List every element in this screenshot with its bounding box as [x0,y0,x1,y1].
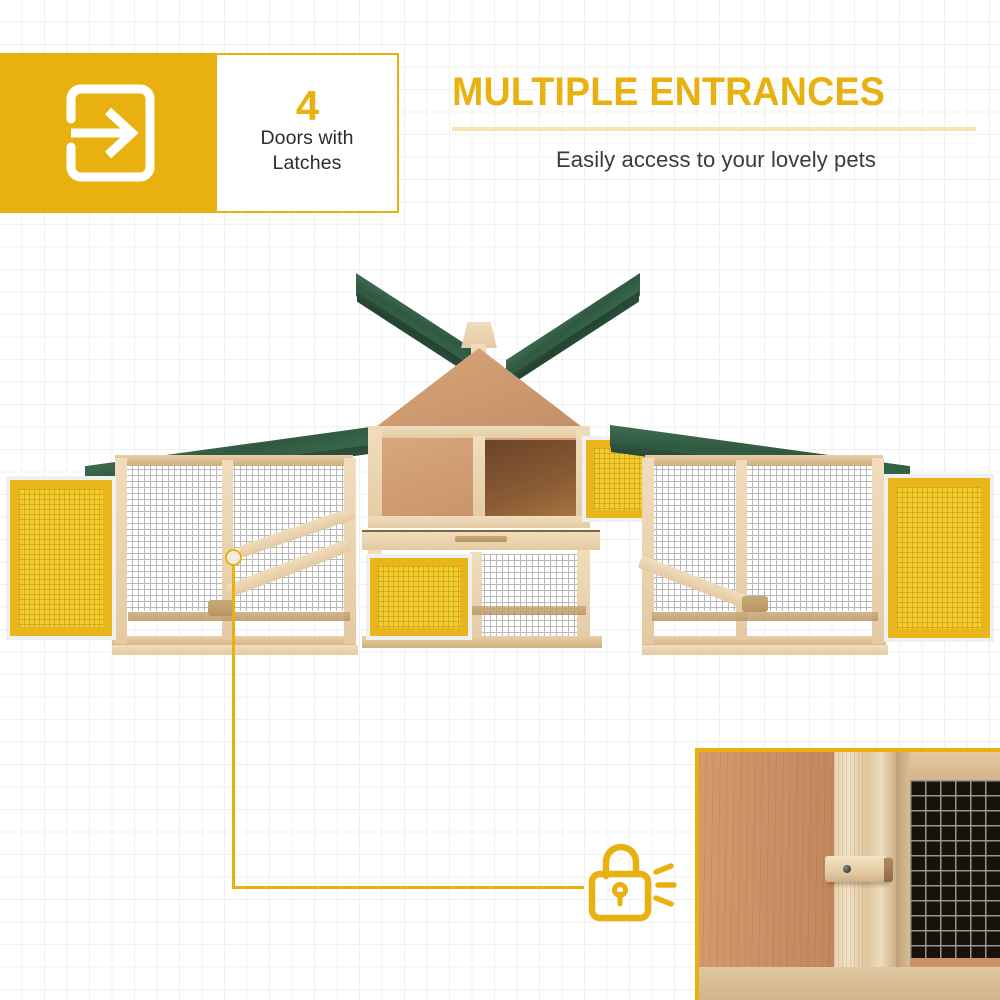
right-run-door[interactable] [888,478,990,638]
inset-door-grain [699,752,834,967]
right-run-mesh [650,463,878,611]
title-divider [452,127,976,131]
stat-label-line-2: Latches [273,151,342,176]
left-run-base-board [112,645,358,655]
upper-house-left-post [368,430,382,528]
headline-block: MULTIPLE ENTRANCES Easily access to your… [452,72,980,173]
inset-latch-screw [843,865,851,873]
inset-wooden-latch [825,856,887,882]
left-run-mid-rail [128,612,350,621]
callout-line-horizontal [232,886,584,889]
right-run-base-board [642,645,888,655]
page-title: MULTIPLE ENTRANCES [452,72,948,112]
left-run-hinge-post [115,458,127,644]
product-photo [0,300,1000,690]
right-run-ramp-foot [742,596,768,612]
open-padlock-icon [586,836,678,929]
left-run-door[interactable] [10,480,112,636]
badge-stat-tile: 4 Doors with Latches [217,53,399,213]
latch-hotspot-marker[interactable] [225,549,242,566]
feature-badge: 4 Doors with Latches [0,53,399,213]
wooden-latch-closeup-photo [695,748,1000,1000]
inset-mesh-top-frame [910,752,1000,780]
right-run-door-mesh [897,487,981,629]
upper-house-bottom-rail [368,516,590,528]
enter-door-arrow-icon [60,81,158,185]
right-run-mid-rail [652,612,878,621]
left-run-top-rail [115,455,353,466]
lower-house-bottom-rail [362,636,602,648]
lower-house-door-mesh [378,566,460,628]
stat-label-line-1: Doors with [260,126,353,151]
inset-latch-side [884,858,893,882]
lower-house-door[interactable] [370,558,468,636]
inset-frame-edge [896,752,910,967]
lower-house-right-post [577,550,590,646]
gable-panel [372,348,586,430]
lower-house-center-post [470,552,482,644]
upper-house-opening [484,440,582,518]
left-run-door-mesh [19,489,103,627]
inset-wire-mesh [910,780,1000,958]
right-run-top-rail [645,455,883,466]
callout-line-vertical [232,564,235,889]
roof-gable-right-edge [506,292,639,388]
upper-house-center-post [473,436,485,522]
stat-number: 4 [296,86,318,126]
left-run-ramp-foot [208,600,234,616]
inset-bottom-rail [699,967,1000,1000]
tray-handle[interactable] [455,536,507,542]
page-subtitle: Easily access to your lovely pets [452,147,980,173]
badge-icon-tile [0,53,217,213]
